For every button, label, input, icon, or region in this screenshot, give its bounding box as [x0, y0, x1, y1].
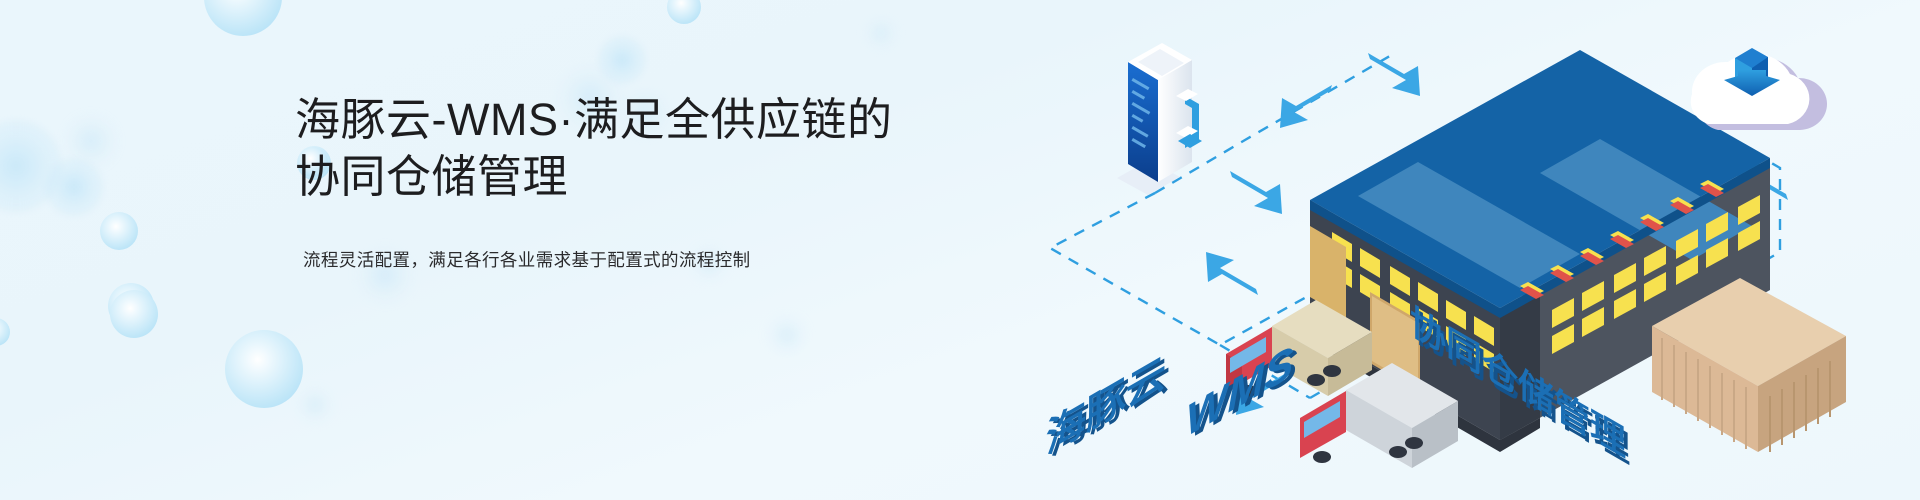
label-dolphin-cloud: 海豚云 海豚云: [1046, 349, 1170, 464]
background-bubble: [45, 158, 103, 216]
page-title: 海豚云-WMS·满足全供应链的 协同仓储管理: [295, 92, 915, 205]
background-bubble: [770, 318, 804, 352]
background-bubble: [667, 0, 701, 24]
background-bubble: [0, 120, 62, 212]
promo-banner: 海豚云-WMS·满足全供应链的 协同仓储管理 流程灵活配置，满足各行各业需求基于…: [0, 0, 1920, 500]
warehouse-illustration: 海豚云 海豚云 WMS WMS 协同仓储管理 协同仓储管理: [980, 0, 1920, 500]
background-bubble: [0, 318, 10, 346]
background-bubble: [204, 0, 282, 36]
background-bubble: [100, 212, 138, 250]
banner-text-block: 海豚云-WMS·满足全供应链的 协同仓储管理 流程灵活配置，满足各行各业需求基于…: [295, 92, 915, 274]
background-bubble: [868, 20, 894, 46]
cloud-storage-icon: [1691, 48, 1827, 130]
banner-subtitle: 流程灵活配置，满足各行各业需求基于配置式的流程控制: [295, 205, 915, 273]
background-bubble: [225, 330, 303, 408]
background-bubble: [110, 290, 158, 338]
background-bubble: [108, 283, 154, 329]
background-bubble: [300, 390, 330, 420]
background-bubble: [68, 118, 114, 164]
background-bubble: [598, 36, 646, 84]
